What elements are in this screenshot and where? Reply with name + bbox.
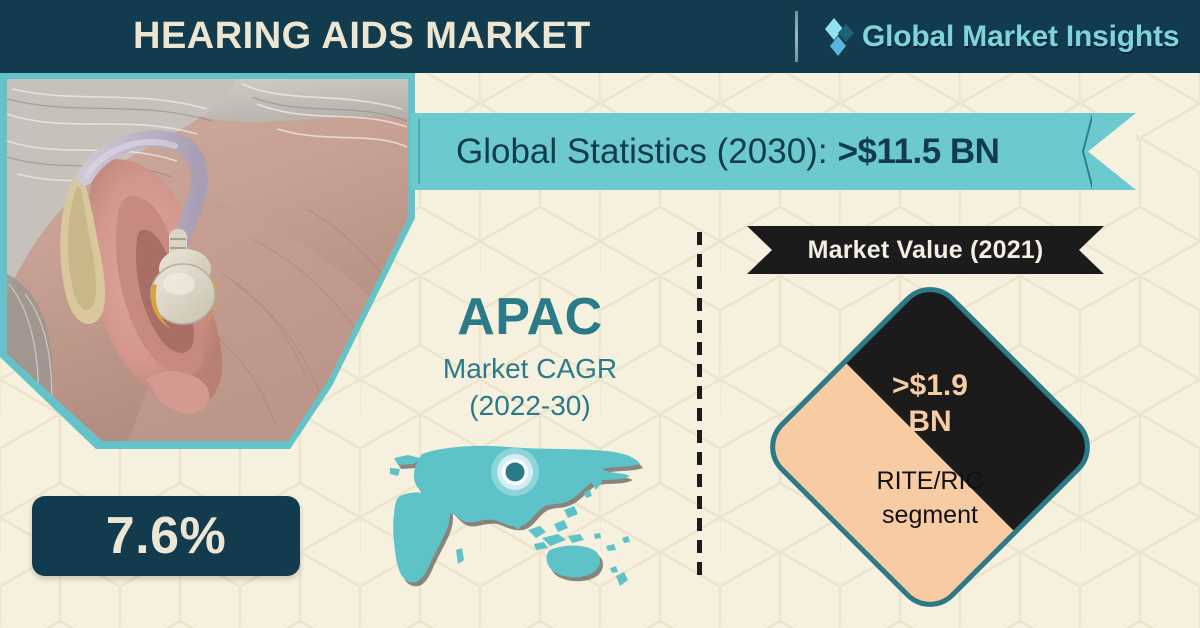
world-map (378, 438, 678, 603)
stats-banner-label: Global Statistics (2030): (456, 132, 828, 172)
world-map-icon (378, 438, 678, 603)
apac-period-label: (2022-30) (380, 388, 680, 424)
cagr-value-text: 7.6% (106, 506, 227, 566)
brand-name: Global Market Insights (862, 20, 1179, 54)
hearing-aid-photo (0, 73, 420, 449)
page-title: HEARING AIDS MARKET (133, 12, 591, 60)
header-bar: HEARING AIDS MARKET Global Market Insigh… (0, 0, 1200, 73)
diamond-card-lower-half (756, 356, 1023, 620)
brand-logo[interactable]: Global Market Insights (824, 14, 1179, 60)
stats-banner-text: Global Statistics (2030): >$11.5 BN (456, 113, 999, 190)
diamond-card-body (756, 273, 1104, 621)
dashed-vertical-divider (697, 232, 702, 582)
apac-block: APAC Market CAGR (2022-30) (380, 288, 680, 424)
market-value-ribbon: Market Value (2021) (747, 226, 1104, 274)
apac-cagr-value-badge: 7.6% (32, 496, 300, 576)
apac-metric-label: Market CAGR (380, 350, 680, 388)
photo-image (7, 79, 410, 441)
header-divider-icon (795, 11, 798, 62)
market-value-ribbon-label: Market Value (2021) (808, 236, 1044, 265)
diamond-logo-icon (824, 16, 858, 58)
rite-ric-diamond-card: >$1.9 BN RITE/RIC segment (779, 298, 1071, 590)
stats-banner-value: >$11.5 BN (838, 132, 1000, 172)
infographic-root: HEARING AIDS MARKET Global Market Insigh… (0, 0, 1200, 628)
map-target-marker-icon (491, 448, 539, 496)
apac-region-title: APAC (380, 288, 680, 346)
global-statistics-banner: Global Statistics (2030): >$11.5 BN (411, 113, 1136, 190)
stats-banner-inner-line (418, 119, 420, 184)
photo-hearing-aid (7, 79, 410, 441)
